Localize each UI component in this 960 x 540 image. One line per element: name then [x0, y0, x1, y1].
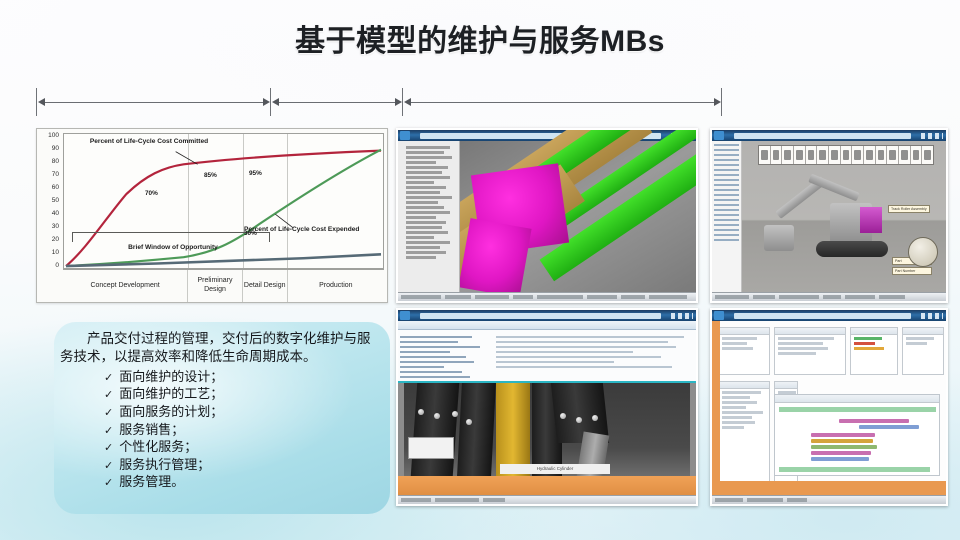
excavator-app-logo-icon	[714, 131, 724, 140]
y-tick-20: 20	[52, 237, 59, 244]
gantt-bar-6[interactable]	[811, 451, 871, 455]
list-item-label: 面向服务的计划；	[119, 403, 223, 420]
annotation-window: Brief Window of Opportunity	[78, 244, 268, 253]
label-85pct: 85%	[204, 172, 217, 179]
excavator-callout-1: Track Roller Assembly	[888, 205, 930, 213]
gantt-left-band	[712, 321, 720, 495]
gantt-panel-tasks[interactable]	[774, 327, 846, 375]
y-tick-70: 70	[52, 172, 59, 179]
check-icon: ✓	[104, 424, 113, 439]
gantt-address-bar[interactable]	[734, 313, 911, 319]
ruler-arrow-1-right	[263, 98, 270, 106]
scene-label: Hydraulic Cylinder	[500, 464, 610, 474]
y-tick-30: 30	[52, 224, 59, 231]
list-item: ✓面向维护的工艺；	[104, 385, 380, 403]
list-item-label: 服务执行管理；	[119, 456, 210, 473]
ruler-tick-start	[36, 88, 37, 116]
check-icon: ✓	[104, 406, 113, 421]
phase-ruler	[36, 88, 722, 122]
palette-tool-help-icon[interactable]	[922, 146, 933, 164]
scene-bolt-1	[418, 409, 424, 415]
ruler-segment-2	[276, 102, 398, 103]
y-tick-60: 60	[52, 185, 59, 192]
parts-window-titlebar	[398, 310, 696, 321]
parts-table[interactable]	[496, 333, 692, 377]
ruler-arrow-3-left	[404, 98, 411, 106]
list-item-label: 面向维护的设计；	[119, 368, 223, 385]
capability-list: ✓面向维护的设计； ✓面向维护的工艺； ✓面向服务的计划； ✓服务销售； ✓个性…	[104, 368, 380, 491]
gantt-bar-1[interactable]	[839, 419, 909, 423]
annotation-committed: Percent of Life-Cycle Cost Committed	[84, 138, 214, 147]
palette-tool-zoom-icon[interactable]	[794, 146, 806, 164]
palette-tool-pan-icon[interactable]	[782, 146, 794, 164]
screenshot-cad-viewer[interactable]	[396, 128, 698, 303]
label-30pct: 30%	[244, 230, 257, 237]
gantt-app-logo-icon	[714, 311, 724, 320]
check-icon: ✓	[104, 459, 113, 474]
description-callout: 产品交付过程的管理，交付后的数字化维护与服务技术，以提高效率和降低生命周期成本。…	[54, 322, 390, 514]
ruler-segment-3	[408, 102, 717, 103]
cad-app-logo-icon	[400, 131, 410, 140]
description-paragraph: 产品交付过程的管理，交付后的数字化维护与服务技术，以提高效率和降低生命周期成本。	[60, 330, 380, 366]
lifecycle-cost-chart: 100 90 80 70 60 50 40 30 20 10 0 Percent…	[36, 128, 388, 303]
ruler-segment-1	[42, 102, 266, 103]
excavator-part-list[interactable]	[712, 141, 742, 292]
gantt-timescale-header	[775, 395, 939, 403]
x-cat-concept: Concept Development	[63, 270, 188, 302]
gantt-bottom-band	[712, 481, 946, 495]
ruler-arrow-1-left	[38, 98, 45, 106]
y-tick-50: 50	[52, 198, 59, 205]
list-item-label: 服务销售；	[119, 421, 184, 438]
gantt-bar-7[interactable]	[811, 457, 869, 461]
list-item-label: 面向维护的工艺；	[119, 385, 223, 402]
committed-leader	[176, 152, 198, 165]
gantt-window-titlebar	[712, 310, 946, 321]
excavator-window-titlebar	[712, 130, 946, 141]
parts-footer-band	[398, 476, 696, 495]
chart-x-axis: Concept Development Preliminary Design D…	[63, 269, 384, 302]
label-70pct: 70%	[145, 190, 158, 197]
scene-bolt-4	[466, 419, 472, 425]
palette-tool-markup-icon[interactable]	[852, 146, 864, 164]
gantt-status-bar	[712, 495, 946, 504]
excavator-tool-palette[interactable]	[758, 145, 934, 165]
opportunity-bracket	[72, 232, 270, 242]
y-tick-40: 40	[52, 211, 59, 218]
parts-address-bar[interactable]	[420, 313, 661, 319]
ruler-tick-2	[402, 88, 403, 116]
gantt-panel-filters[interactable]	[718, 327, 770, 375]
ruler-tick-1	[270, 88, 271, 116]
x-cat-detail: Detail Design	[243, 270, 288, 302]
gantt-bar-5[interactable]	[811, 445, 877, 449]
list-item: ✓服务执行管理；	[104, 456, 380, 474]
scene-pipe-yellow	[496, 383, 530, 476]
parts-status-bar	[398, 495, 696, 504]
scene-pipe-left-2	[454, 383, 496, 476]
parts-toolbar[interactable]	[398, 321, 696, 330]
scene-bolt-5	[560, 413, 566, 419]
palette-tool-hide-icon[interactable]	[864, 146, 876, 164]
gantt-timeline[interactable]	[774, 394, 940, 476]
excavator-gauge-icon	[908, 237, 938, 267]
list-item: ✓面向服务的计划；	[104, 403, 380, 421]
cad-selected-part-2[interactable]	[458, 218, 531, 298]
excavator-bucket	[764, 225, 794, 251]
series-baseline	[66, 254, 381, 266]
check-icon: ✓	[104, 476, 113, 491]
scene-tooltip	[408, 437, 454, 459]
gantt-summary-bar-2	[779, 467, 930, 472]
palette-tool-explode-icon[interactable]	[829, 146, 841, 164]
ruler-arrow-3-right	[714, 98, 721, 106]
excavator-address-bar[interactable]	[734, 133, 911, 139]
list-item: ✓个性化服务；	[104, 438, 380, 456]
gantt-window-controls[interactable]	[921, 313, 943, 319]
check-icon: ✓	[104, 441, 113, 456]
gantt-bar-3[interactable]	[811, 433, 875, 437]
parts-data-panel[interactable]	[398, 321, 696, 381]
gantt-bar-2[interactable]	[859, 425, 919, 429]
list-item: ✓服务管理。	[104, 473, 380, 491]
page-title: 基于模型的维护与服务MBs	[0, 16, 960, 60]
parts-3d-scene[interactable]: Hydraulic Cylinder	[404, 383, 690, 476]
palette-tool-rotate-icon[interactable]	[771, 146, 783, 164]
gantt-panel-status[interactable]	[850, 327, 898, 375]
gantt-panel-metrics[interactable]	[718, 381, 770, 491]
excavator-window-controls[interactable]	[921, 133, 943, 139]
y-tick-0: 0	[55, 263, 59, 270]
x-cat-preliminary: Preliminary Design	[188, 270, 243, 302]
scene-bolt-2	[434, 413, 440, 419]
list-item: ✓服务销售；	[104, 421, 380, 439]
palette-tool-search-icon[interactable]	[911, 146, 923, 164]
x-cat-production: Production	[288, 270, 384, 302]
screenshot-excavator-viewer[interactable]: Track Roller Assembly Part Part Number	[710, 128, 948, 303]
palette-tool-section-icon[interactable]	[806, 146, 818, 164]
ruler-arrow-2-right	[395, 98, 402, 106]
excavator-highlighted-part[interactable]	[860, 207, 882, 233]
gantt-bar-4[interactable]	[811, 439, 873, 443]
gantt-summary-bar	[779, 407, 936, 412]
check-icon: ✓	[104, 371, 113, 386]
palette-tool-camera-icon[interactable]	[899, 146, 911, 164]
screenshot-service-planning[interactable]	[710, 308, 948, 506]
excavator-track	[816, 241, 888, 257]
y-tick-90: 90	[52, 146, 59, 153]
chart-y-axis: 100 90 80 70 60 50 40 30 20 10 0	[37, 133, 61, 269]
parts-tree[interactable]	[400, 333, 492, 377]
list-item: ✓面向维护的设计；	[104, 368, 380, 386]
scene-bolt-7	[592, 415, 598, 421]
label-95pct: 95%	[249, 170, 262, 177]
palette-tool-measure-icon[interactable]	[817, 146, 829, 164]
check-icon: ✓	[104, 388, 113, 403]
scene-bolt-3	[452, 411, 458, 417]
excavator-status-bar	[712, 292, 946, 301]
parts-window-controls[interactable]	[671, 313, 693, 319]
excavator-callout-3: Part Number	[892, 267, 932, 275]
scene-pipe-left	[407, 383, 459, 476]
palette-tool-select-icon[interactable]	[759, 146, 771, 164]
ruler-tick-end	[721, 88, 722, 116]
cad-status-bar	[398, 292, 696, 301]
palette-tool-paint-icon[interactable]	[876, 146, 888, 164]
cad-model-tree[interactable]	[398, 141, 460, 292]
ruler-arrow-2-left	[272, 98, 279, 106]
palette-tool-light-icon[interactable]	[887, 146, 899, 164]
palette-tool-annotate-icon[interactable]	[841, 146, 853, 164]
parts-app-logo-icon	[400, 311, 410, 320]
y-tick-10: 10	[52, 250, 59, 257]
y-tick-100: 100	[48, 133, 59, 140]
list-item-label: 个性化服务；	[119, 438, 197, 455]
screenshot-parts-viewer[interactable]: Hydraulic Cylinder	[396, 308, 698, 506]
list-item-label: 服务管理。	[119, 473, 184, 490]
y-tick-80: 80	[52, 159, 59, 166]
gantt-panel-resources[interactable]	[902, 327, 944, 375]
scene-bolt-6	[576, 417, 582, 423]
chart-plot-area: Percent of Life-Cycle Cost Committed Per…	[63, 133, 384, 269]
